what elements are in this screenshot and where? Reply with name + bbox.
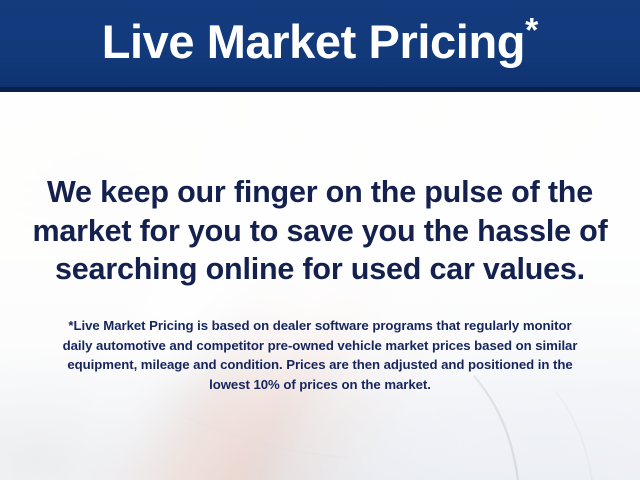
headline-text: We keep our finger on the pulse of the m…	[24, 173, 616, 289]
disclaimer-line: *Live Market Pricing is based on dealer …	[26, 316, 614, 336]
page-title-asterisk: *	[525, 11, 538, 49]
disclaimer-line: daily automotive and competitor pre-owne…	[26, 336, 614, 356]
page-title-text: Live Market Pricing	[102, 15, 525, 68]
page-title: Live Market Pricing*	[0, 11, 640, 73]
disclaimer-line: equipment, mileage and condition. Prices…	[26, 355, 614, 375]
disclaimer-text: *Live Market Pricing is based on dealer …	[26, 316, 614, 394]
header-band-bottom-rule	[0, 87, 640, 92]
disclaimer-line: lowest 10% of prices on the market.	[26, 375, 614, 395]
live-market-pricing-banner: Live Market Pricing* We keep our finger …	[0, 0, 640, 480]
